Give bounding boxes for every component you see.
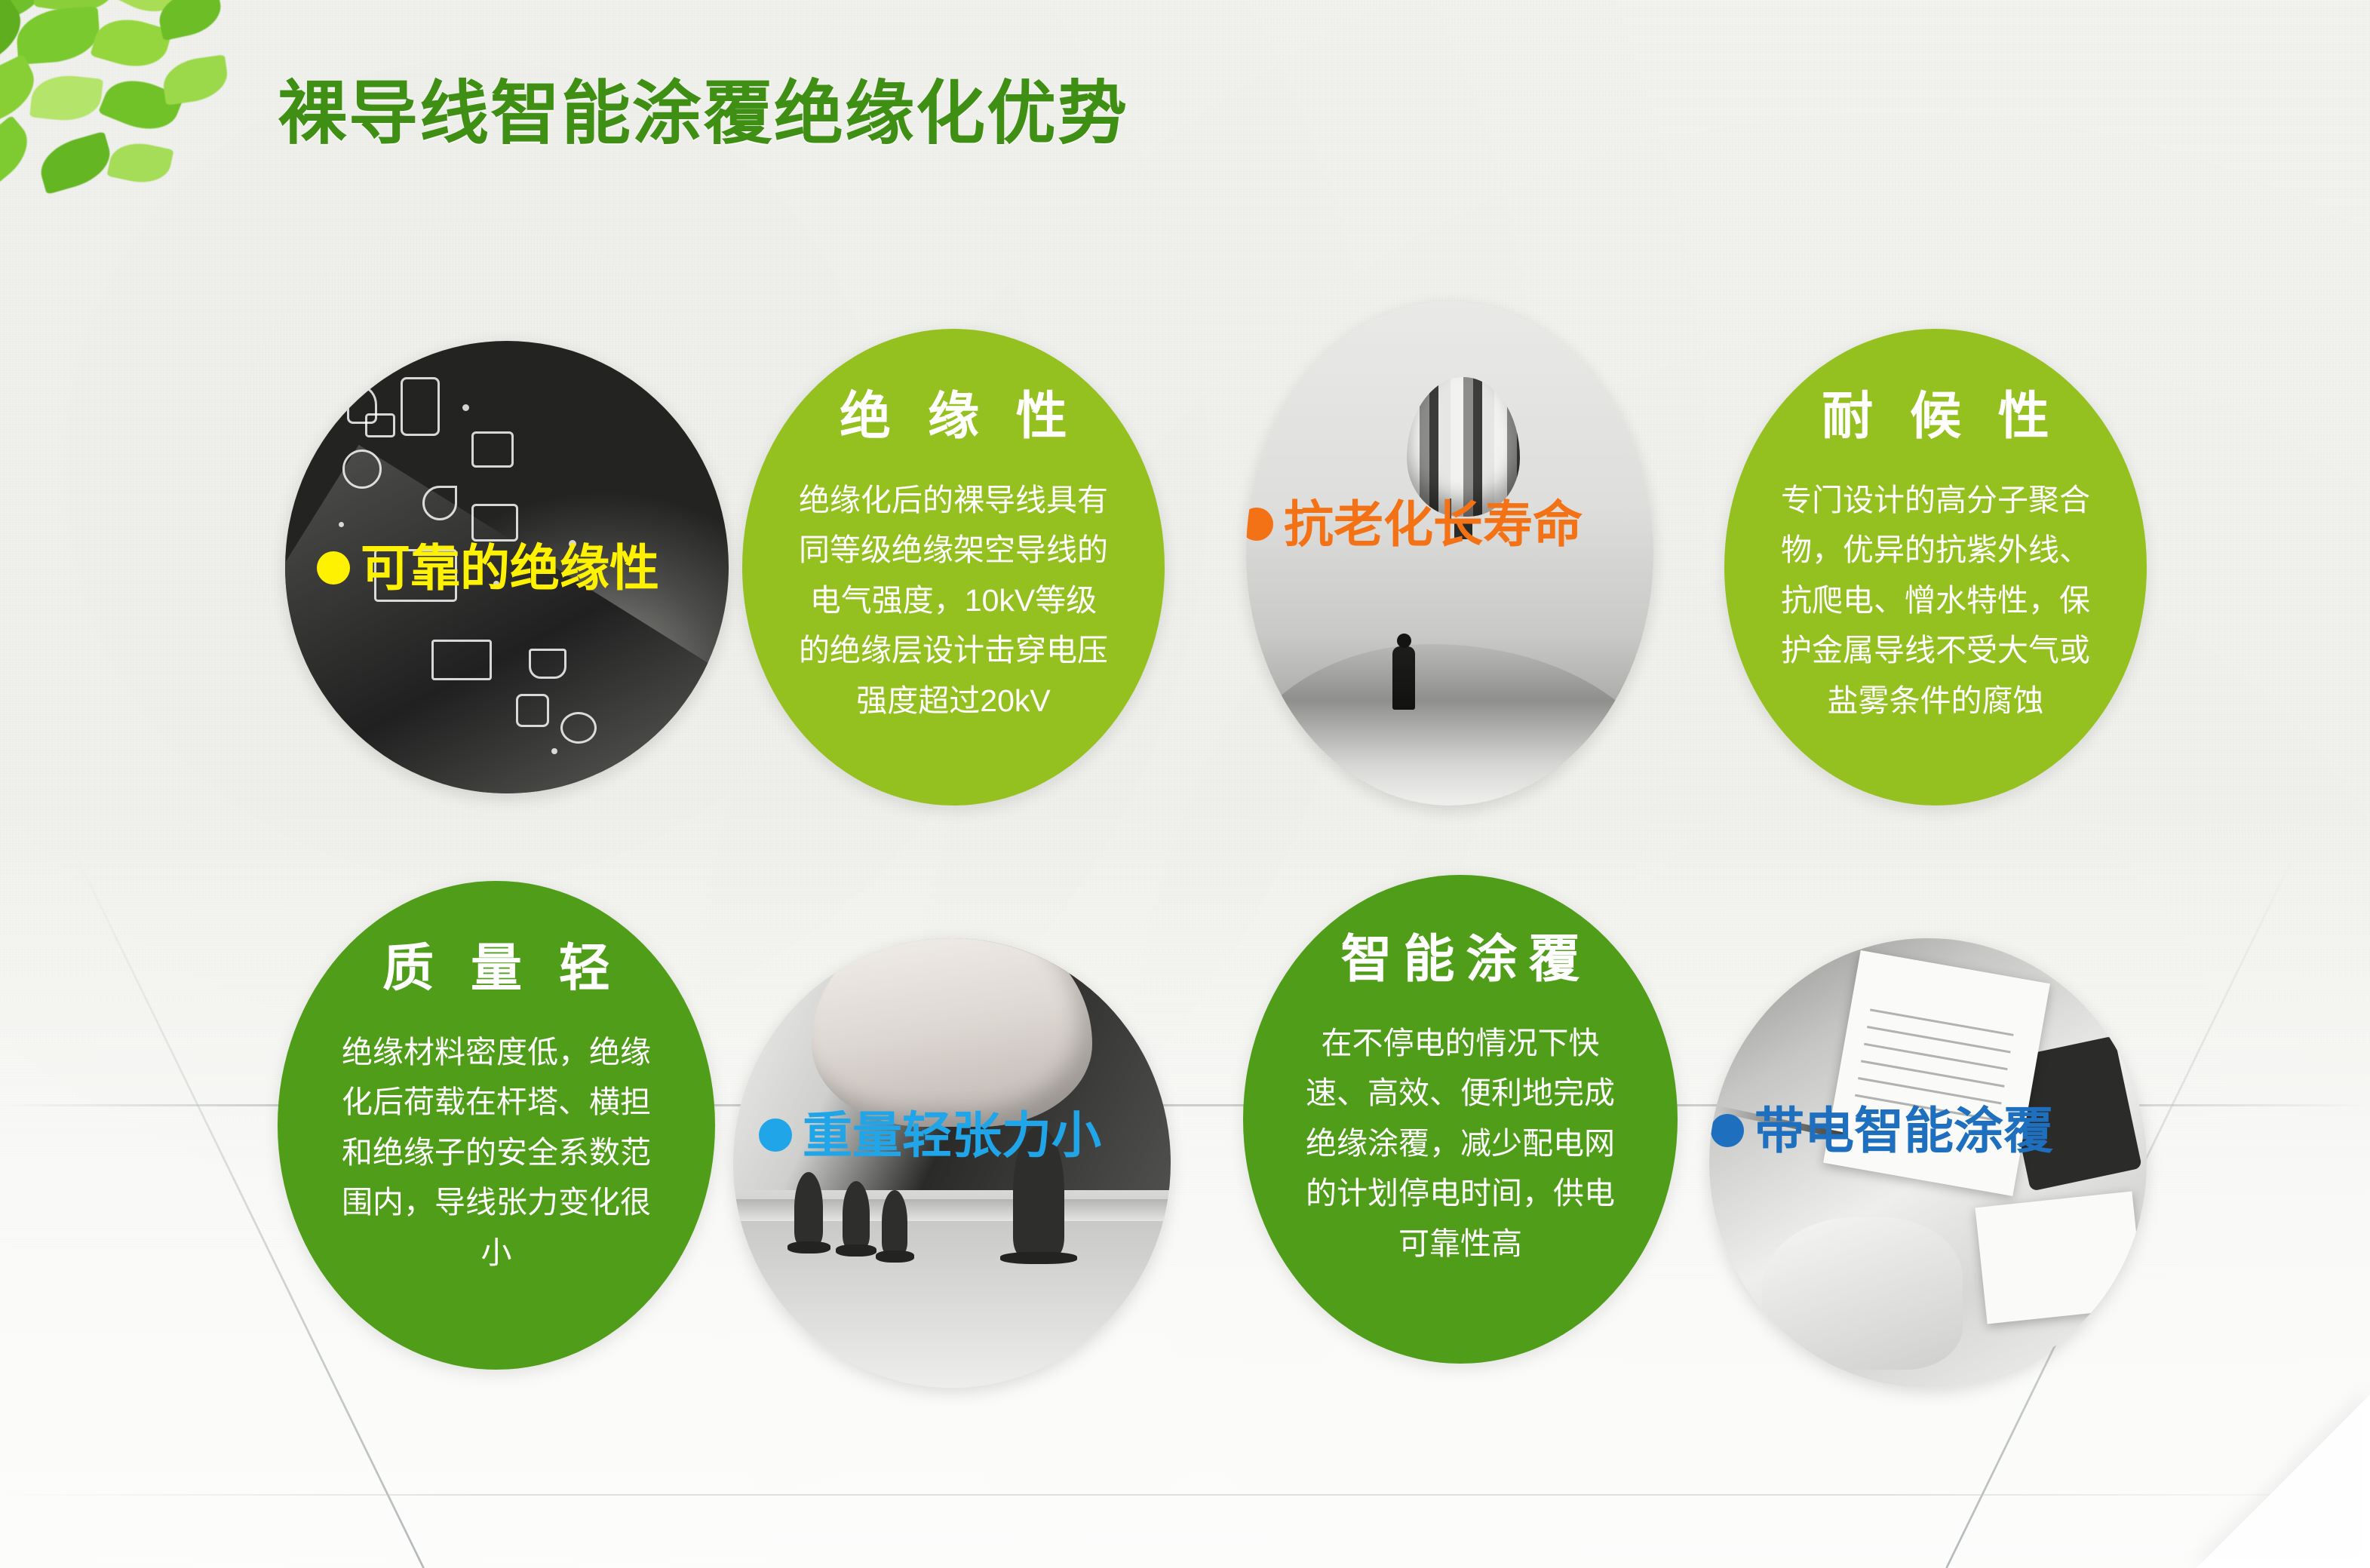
person-silhouette [1392, 646, 1415, 710]
cloud-icon [560, 712, 597, 744]
bell-icon [516, 694, 549, 727]
sparkle-dot [462, 404, 469, 411]
photo-label-reliable-insulation: 可靠的绝缘性 [317, 543, 659, 593]
feature-circle-smart-coating[interactable]: 智能涂覆 在不停电的情况下快速、高效、便利地完成绝缘涂覆，减少配电网的计划停电时… [1243, 875, 1678, 1364]
speech-bubble-icon [471, 431, 514, 468]
laptop-icon [431, 640, 492, 680]
document-page [1823, 950, 2050, 1196]
photo-label-live-smart-coating: 带电智能涂覆 [1711, 1106, 2053, 1155]
hand-icon [812, 938, 1091, 1127]
bullet-dot-icon [317, 551, 350, 585]
smartphone-slab [285, 445, 729, 793]
slide-canvas: 裸导线智能涂覆绝缘化优势 可靠的绝缘性 绝 缘 性 绝缘化后的裸导线具有同等级绝… [0, 0, 2370, 1568]
photo-circle-anti-aging[interactable]: 抗老化长寿命 [1246, 302, 1653, 805]
feature-body-light-weight: 绝缘材料密度低，绝缘化后荷载在杆塔、横担和绝缘子的安全系数范围内，导线张力变化很… [334, 1027, 659, 1278]
mountain-ridge [1246, 644, 1653, 805]
feature-title-insulation: 绝 缘 性 [828, 391, 1079, 442]
photo-circle-live-smart-coating[interactable]: 带电智能涂覆 [1709, 938, 2147, 1388]
photo-label-anti-aging: 抗老化长寿命 [1246, 499, 1583, 549]
feature-title-light-weight: 质 量 轻 [371, 943, 622, 994]
photo-circle-light-low-tension[interactable]: 重量轻张力小 [733, 938, 1171, 1388]
feature-circle-light-weight[interactable]: 质 量 轻 绝缘材料密度低，绝缘化后荷载在杆塔、横担和绝缘子的安全系数范围内，导… [278, 881, 715, 1370]
leaves-branch-icon [0, 0, 241, 234]
photo-label-light-low-tension: 重量轻张力小 [759, 1110, 1101, 1160]
photo-label-text: 可靠的绝缘性 [361, 543, 659, 593]
chess-pawn [882, 1190, 907, 1253]
feature-body-insulation: 绝缘化后的裸导线具有同等级绝缘架空导线的电气强度，10kV等级的绝缘层设计击穿电… [795, 475, 1112, 726]
feature-title-smart-coating: 智能涂覆 [1330, 934, 1592, 985]
mail-box-icon [365, 413, 395, 437]
hand-cuff-icon [1762, 1217, 1963, 1370]
document-page [1975, 1191, 2144, 1324]
feature-body-weatherability: 专门设计的高分子聚合物，优异的抗紫外线、抗爬电、憎水特性，保护金属导线不受大气或… [1767, 475, 2104, 726]
feature-title-weatherability: 耐 候 性 [1810, 391, 2061, 442]
photo-circle-reliable-insulation[interactable]: 可靠的绝缘性 [285, 341, 729, 793]
feature-circle-weatherability[interactable]: 耐 候 性 专门设计的高分子聚合物，优异的抗紫外线、抗爬电、憎水特性，保护金属导… [1724, 329, 2147, 805]
feature-circle-insulation[interactable]: 绝 缘 性 绝缘化后的裸导线具有同等级绝缘架空导线的电气强度，10kV等级的绝缘… [742, 329, 1165, 805]
photo-label-text: 重量轻张力小 [803, 1110, 1101, 1160]
sparkle-dot [339, 522, 344, 527]
camera-icon [471, 504, 518, 542]
chess-pawn [843, 1181, 870, 1247]
bullet-dot-icon [759, 1118, 792, 1152]
photo-label-text: 带电智能涂覆 [1754, 1106, 2053, 1155]
sparkle-dot [551, 748, 557, 754]
photo-label-text: 抗老化长寿命 [1284, 499, 1583, 549]
floor-front-line [0, 1494, 2370, 1496]
bullet-dot-icon [1711, 1114, 1744, 1147]
bullet-dot-icon [1246, 508, 1273, 541]
smartphone-icon [401, 377, 440, 436]
page-title: 裸导线智能涂覆绝缘化优势 [278, 57, 1128, 158]
chess-pawn [794, 1172, 823, 1244]
page-corner-fold [2197, 1395, 2370, 1568]
music-note-icon [422, 486, 457, 520]
feature-body-smart-coating: 在不停电的情况下快速、高效、便利地完成绝缘涂覆，减少配电网的计划停电时间，供电可… [1298, 1018, 1622, 1269]
cart-icon [529, 649, 566, 679]
